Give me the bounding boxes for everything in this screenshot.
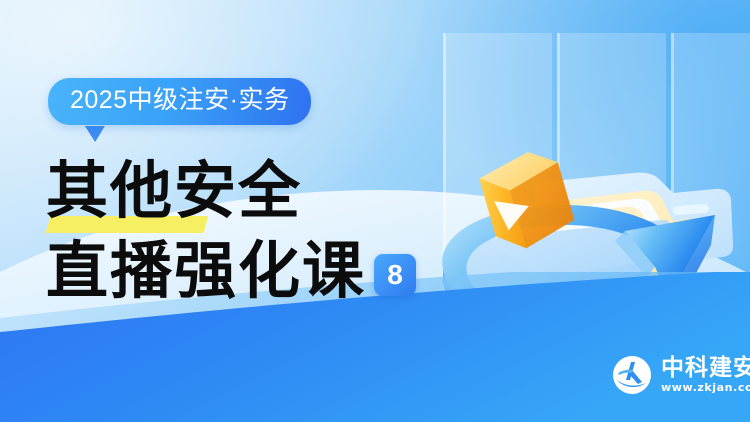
- headline-line-1-row: 其他安全: [46, 150, 466, 232]
- course-banner: 2025中级注安·实务 其他安全 直播强化课 8 中科建安 www.zkjan.…: [0, 0, 750, 422]
- course-tag-pill: 2025中级注安·实务: [48, 78, 311, 125]
- headline-block: 其他安全 直播强化课 8: [46, 150, 466, 310]
- brand-logo-text: 中科建安 www.zkjan.com: [661, 356, 750, 395]
- headline-line-2: 直播强化课: [46, 230, 366, 312]
- headline-line-2-row: 直播强化课 8: [46, 232, 466, 310]
- brand-logo: 中科建安 www.zkjan.com: [612, 355, 750, 395]
- episode-number-badge: 8: [374, 254, 416, 296]
- brand-name: 中科建安: [661, 356, 750, 381]
- headline-line-1: 其他安全: [46, 150, 466, 232]
- tag-pill-tail: [83, 126, 105, 142]
- brand-url: www.zkjan.com: [661, 381, 750, 395]
- zkjan-circle-logo-icon: [612, 355, 652, 395]
